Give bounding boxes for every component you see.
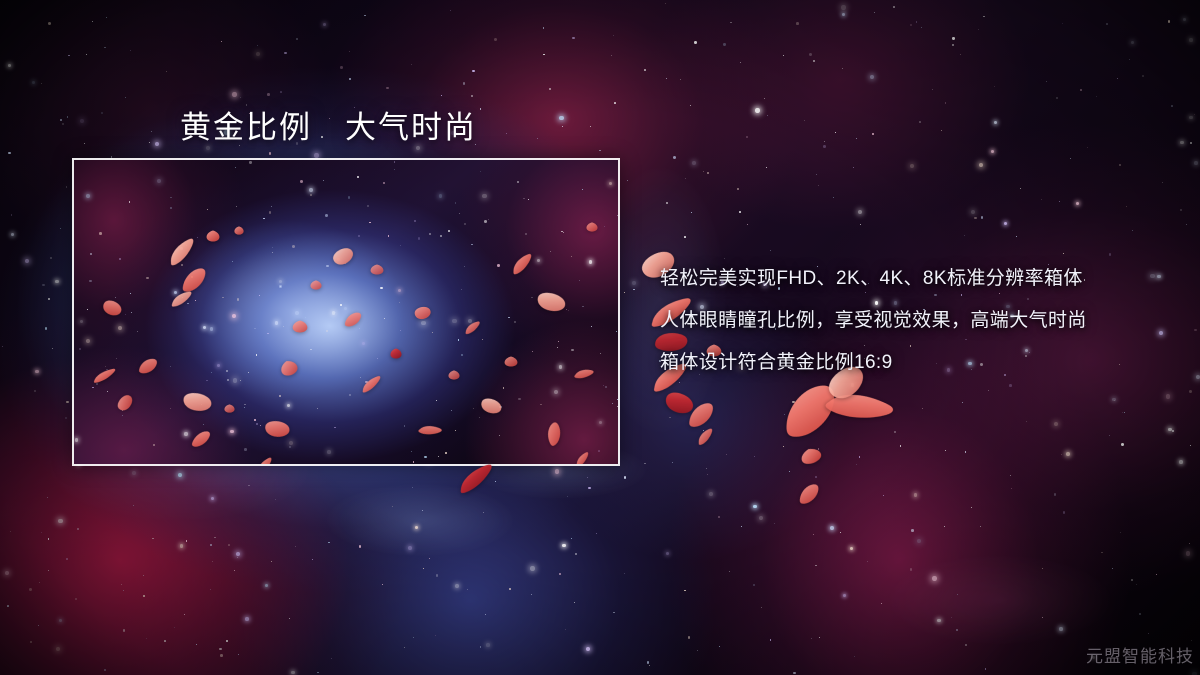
slide-title: 黄金比例 大气时尚 bbox=[180, 102, 477, 147]
body-line-3: 箱体设计符合黄金比例16:9 bbox=[660, 342, 1160, 384]
petal bbox=[310, 280, 322, 290]
petal bbox=[206, 230, 220, 242]
petal bbox=[292, 320, 308, 333]
petal bbox=[819, 377, 899, 442]
petal bbox=[797, 480, 821, 508]
petal bbox=[390, 348, 402, 359]
petal bbox=[224, 404, 235, 413]
petal bbox=[453, 461, 501, 499]
presentation-slide: 黄金比例 大气时尚 轻松完美实现FHD、2K、4K、8K标准分辨率箱体 人体眼睛… bbox=[0, 0, 1200, 675]
petal bbox=[414, 306, 431, 320]
petal bbox=[448, 370, 460, 380]
petal bbox=[504, 356, 518, 367]
petal bbox=[686, 397, 716, 432]
petal bbox=[798, 445, 824, 468]
body-line-2: 人体眼睛瞳孔比例，享受视觉效果，高端大气时尚 bbox=[660, 300, 1160, 342]
company-watermark: 元盟智能科技 bbox=[1086, 642, 1194, 667]
petal bbox=[586, 222, 598, 232]
photo-starfield bbox=[74, 160, 618, 464]
petal bbox=[780, 376, 840, 447]
slide-body-text: 轻松完美实现FHD、2K、4K、8K标准分辨率箱体 人体眼睛瞳孔比例，享受视觉效… bbox=[660, 258, 1160, 384]
petal bbox=[661, 386, 698, 420]
framed-photo bbox=[72, 158, 620, 466]
petal bbox=[694, 426, 718, 448]
petal bbox=[370, 264, 384, 275]
petal bbox=[234, 226, 244, 235]
body-line-1: 轻松完美实现FHD、2K、4K、8K标准分辨率箱体 bbox=[660, 258, 1160, 300]
